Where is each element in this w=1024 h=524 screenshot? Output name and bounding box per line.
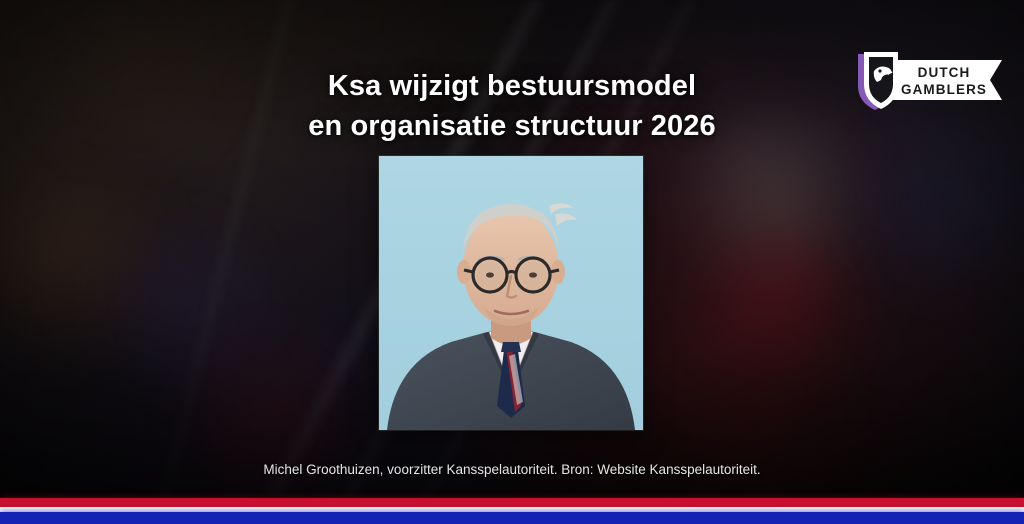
dutch-flag-bar [0,498,1024,524]
logo-line-2: GAMBLERS [901,82,987,97]
blue-stripe [0,512,1024,524]
red-stripe [0,498,1024,507]
photo-caption: Michel Groothuizen, voorzitter Kansspela… [0,461,1024,479]
article-header-banner: Ksa wijzigt bestuursmodel en organisatie… [0,0,1024,524]
flag-bar-fade [0,488,1024,498]
dutch-gamblers-logo[interactable]: DUTCH GAMBLERS [852,42,1008,114]
logo-line-1: DUTCH [918,65,971,80]
portrait-photo [379,156,643,430]
